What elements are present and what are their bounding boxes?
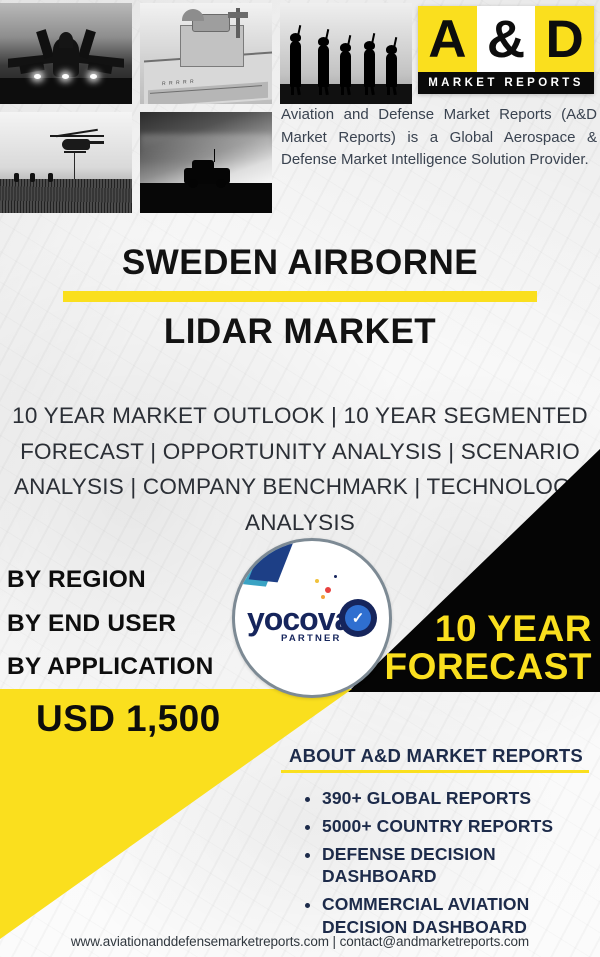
- report-scope-subtitle: 10 YEAR MARKET OUTLOOK | 10 YEAR SEGMENT…: [8, 398, 592, 540]
- confetti-dot-orange: [321, 595, 325, 599]
- company-description: Aviation and Defense Market Reports (A&D…: [281, 104, 597, 172]
- fighter-jet-photo: [0, 3, 132, 104]
- footer-contact[interactable]: www.aviationanddefensemarketreports.com …: [0, 934, 600, 949]
- logo-cell-a: A: [418, 6, 477, 72]
- title-underline-bar: [63, 291, 537, 302]
- forecast-badge: 10 YEAR FORECAST: [362, 610, 592, 686]
- logo-tagline-bar: MARKET REPORTS: [418, 72, 594, 94]
- segment-item-end-user: BY END USER: [7, 602, 214, 646]
- price-label: USD 1,500: [36, 698, 221, 740]
- segment-item-region: BY REGION: [7, 558, 214, 602]
- report-title: SWEDEN AIRBORNE LIDAR MARKET: [0, 243, 600, 351]
- yocova-partner-badge: yocova PARTNER ✓: [232, 538, 392, 698]
- logo-ampersand: &: [487, 13, 525, 66]
- title-line-1: SWEDEN AIRBORNE: [0, 243, 600, 282]
- logo-letter-a: A: [428, 13, 466, 66]
- logo-tagline: MARKET REPORTS: [428, 77, 584, 89]
- about-heading: ABOUT A&D MARKET REPORTS: [281, 745, 591, 767]
- naval-warship-photo: R R R R R: [140, 3, 272, 104]
- ad-market-reports-logo[interactable]: A & D MARKET REPORTS: [418, 6, 594, 94]
- logo-letter-row: A & D: [418, 6, 594, 72]
- logo-letter-d: D: [546, 13, 584, 66]
- verified-check-icon: ✓: [339, 599, 377, 637]
- soldiers-silhouette-photo: [280, 3, 412, 104]
- verified-check-glyph: ✓: [345, 605, 371, 631]
- confetti-dot-red: [325, 587, 331, 593]
- about-bullet-country-reports: 5000+ COUNTRY REPORTS: [322, 815, 600, 838]
- about-heading-underline: [281, 770, 589, 773]
- logo-cell-d: D: [535, 6, 594, 72]
- about-bullet-global-reports: 390+ GLOBAL REPORTS: [322, 787, 600, 810]
- forecast-line-1: 10 YEAR: [362, 610, 592, 648]
- segmentation-list: BY REGION BY END USER BY APPLICATION: [7, 558, 214, 689]
- forecast-line-2: FORECAST: [362, 648, 592, 686]
- confetti-dot-navy: [334, 575, 337, 578]
- about-bullet-commercial-dashboard: COMMERCIAL AVIATION DECISION DASHBOARD: [322, 893, 600, 939]
- confetti-dot-yellow: [315, 579, 319, 583]
- segment-item-application: BY APPLICATION: [7, 645, 214, 689]
- title-line-2: LIDAR MARKET: [0, 312, 600, 351]
- report-cover-poster: R R R R R: [0, 0, 600, 957]
- military-helicopter-photo: [0, 112, 132, 213]
- about-bullet-list: 390+ GLOBAL REPORTS 5000+ COUNTRY REPORT…: [300, 787, 600, 944]
- armored-vehicle-photo: [140, 112, 272, 213]
- yocova-wordmark: yocova: [247, 603, 347, 635]
- logo-cell-ampersand: &: [477, 6, 536, 72]
- about-bullet-defense-dashboard: DEFENSE DECISION DASHBOARD: [322, 843, 600, 889]
